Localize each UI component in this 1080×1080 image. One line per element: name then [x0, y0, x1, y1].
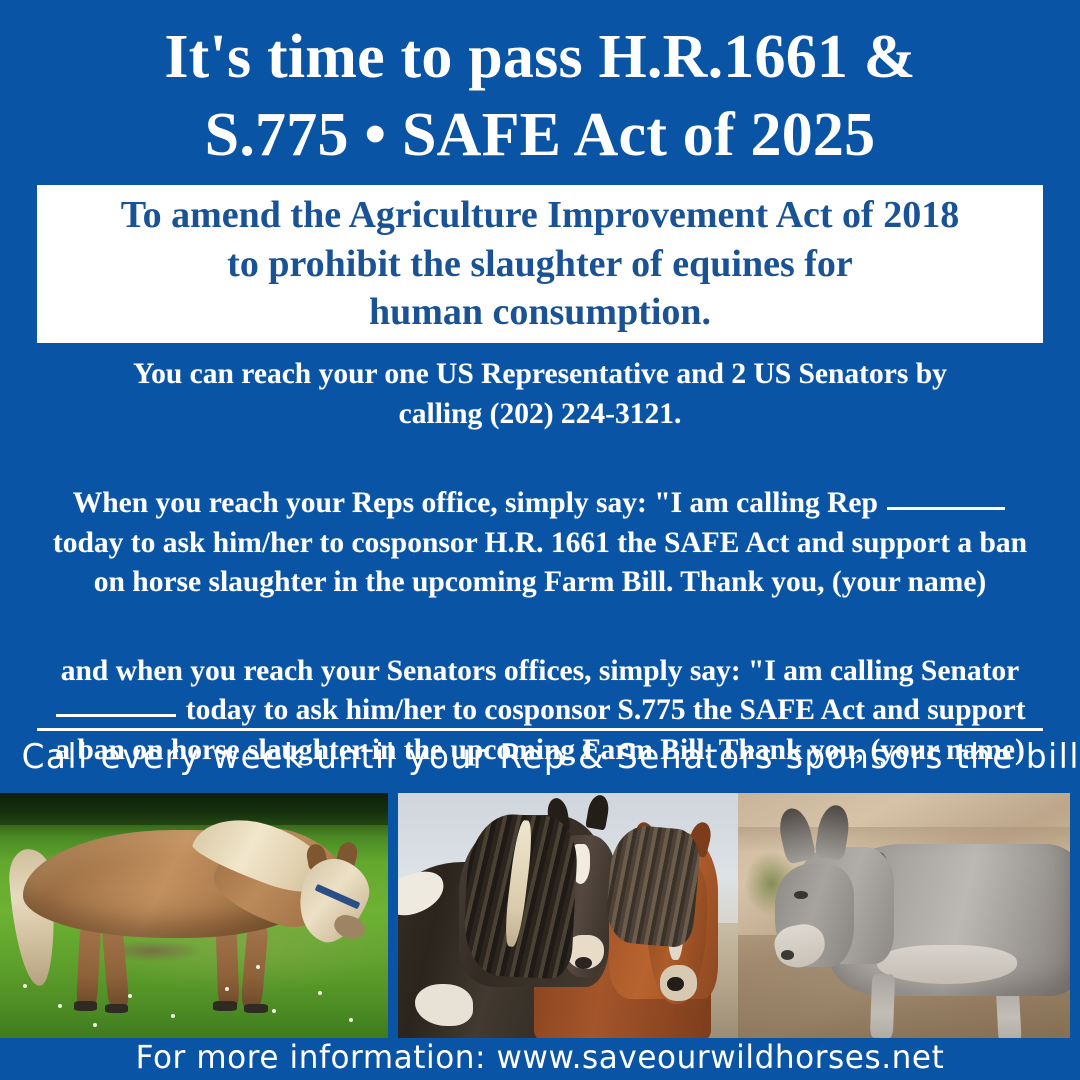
pinto-horse-ear	[586, 794, 612, 831]
wildflower	[225, 987, 229, 991]
wildflower	[58, 1004, 62, 1008]
rep-name-blank	[887, 507, 1005, 510]
wildflower	[256, 965, 260, 969]
contact-paragraph: You can reach your one US Representative…	[0, 355, 1080, 434]
wildflower	[23, 984, 27, 988]
wildflower	[128, 994, 132, 998]
contact-line-2: calling (202) 224-3121.	[14, 395, 1066, 435]
photo-palomino-horse-in-pasture	[0, 793, 388, 1038]
contact-line-1: You can reach your one US Representative…	[14, 355, 1066, 395]
bay-horse-mane	[604, 824, 702, 949]
bay-horse-nostril	[667, 977, 684, 992]
horse-hoof	[213, 1001, 236, 1011]
horse-leg	[101, 925, 129, 1010]
bill-summary-line-1: To amend the Agriculture Improvement Act…	[121, 191, 959, 240]
rep-script-paragraph: When you reach your Reps office, simply …	[0, 484, 1080, 603]
title-line-1: It's time to pass H.R.1661 &	[40, 18, 1040, 96]
photo-gutter	[388, 793, 398, 1038]
bill-summary-line-3: human consumption.	[369, 288, 711, 337]
rep-script-line-1: When you reach your Reps office, simply …	[14, 484, 1066, 524]
horse-hoof	[74, 1001, 97, 1011]
wildflower	[318, 991, 322, 995]
senator-script-line-1: and when you reach your Senators offices…	[14, 652, 1066, 692]
horse-hoof	[244, 1004, 267, 1014]
wildflower	[93, 1023, 97, 1027]
wildflower	[349, 1018, 353, 1022]
senator-name-blank	[56, 714, 176, 717]
horizontal-divider	[37, 728, 1043, 731]
title-line-2: S.775 • SAFE Act of 2025	[40, 96, 1040, 174]
senator-script-line-2: today to ask him/her to cosponsor S.775 …	[14, 691, 1066, 731]
footer-website-line[interactable]: For more information: www.saveourwildhor…	[16, 1038, 1064, 1076]
rep-script-line-1-text: When you reach your Reps office, simply …	[73, 487, 878, 519]
horse-leg	[216, 925, 240, 1009]
bill-summary-box: To amend the Agriculture Improvement Act…	[37, 185, 1043, 343]
horse-leg	[75, 925, 100, 1009]
horse-hoof	[105, 1004, 128, 1014]
bill-summary-line-2: to prohibit the slaughter of equines for	[227, 240, 853, 289]
photo-wild-burro-on-rocks	[738, 793, 1070, 1038]
wildflower	[272, 1009, 276, 1013]
senator-script-line-2-text: today to ask him/her to cosponsor S.775 …	[186, 694, 1026, 726]
photo-strip	[0, 793, 1080, 1038]
wildflower	[171, 1014, 175, 1018]
photo-two-wild-mustangs	[398, 793, 738, 1038]
page-title: It's time to pass H.R.1661 & S.775 • SAF…	[0, 18, 1080, 174]
burro-belly	[877, 945, 1016, 984]
body-copy: You can reach your one US Representative…	[0, 355, 1080, 770]
poster-canvas: It's time to pass H.R.1661 & S.775 • SAF…	[0, 0, 1080, 1080]
rep-script-line-2: today to ask him/her to cosponsor H.R. 1…	[14, 524, 1066, 564]
burro-leg	[870, 974, 895, 1038]
burro-nostril	[781, 950, 794, 960]
rep-script-line-3: on horse slaughter in the upcoming Farm …	[14, 563, 1066, 603]
call-to-action-text: Call every week until your Rep & Senator…	[22, 737, 1059, 777]
tree-backdrop	[0, 793, 388, 825]
horse-leg	[241, 925, 269, 1010]
